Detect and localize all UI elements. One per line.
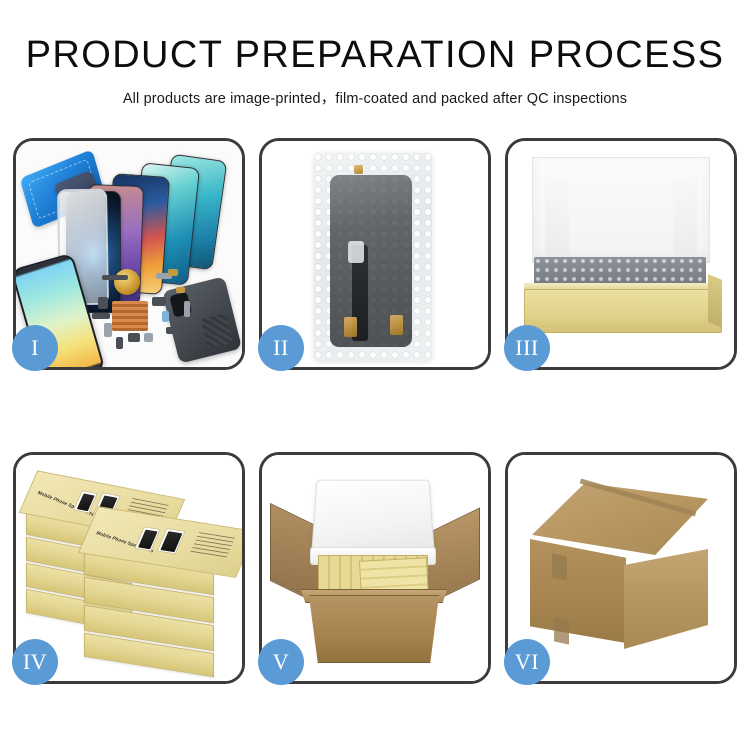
part-block-5 bbox=[144, 333, 153, 342]
process-step-1[interactable]: I bbox=[13, 138, 245, 370]
gold-contact-3 bbox=[354, 165, 363, 174]
part-block-3 bbox=[152, 297, 166, 306]
page-subtitle: All products are image-printed，film-coat… bbox=[0, 87, 750, 108]
box-window-front-2 bbox=[157, 528, 186, 554]
part-block-4 bbox=[128, 333, 140, 342]
part-strip-1 bbox=[102, 275, 128, 280]
carton-tape-bottom bbox=[554, 617, 569, 644]
part-block-1 bbox=[98, 297, 108, 309]
phone-back-housing bbox=[162, 276, 242, 363]
connector-white bbox=[348, 241, 364, 263]
wireless-coil-part bbox=[114, 269, 140, 295]
carton-tape-top bbox=[552, 553, 567, 580]
process-step-4[interactable]: Mobile Phone Spare Parts Mobile Phone Sp… bbox=[13, 452, 245, 684]
part-block-7 bbox=[166, 327, 179, 334]
part-blue-1 bbox=[162, 311, 169, 322]
process-step-2[interactable]: II bbox=[259, 138, 491, 370]
box-lid-white bbox=[532, 157, 710, 263]
step-badge-5: V bbox=[258, 639, 304, 685]
part-block-8 bbox=[184, 301, 190, 317]
part-flex-1 bbox=[92, 313, 110, 319]
carton-side-face bbox=[624, 549, 708, 649]
step-badge-3: III bbox=[504, 325, 550, 371]
process-step-5[interactable]: V bbox=[259, 452, 491, 684]
part-gold-2 bbox=[176, 287, 185, 293]
process-step-3[interactable]: III bbox=[505, 138, 737, 370]
carton-front-face bbox=[530, 539, 626, 643]
bubble-wrap-bag bbox=[314, 153, 432, 361]
step-badge-2: II bbox=[258, 325, 304, 371]
step-badge-6: VI bbox=[504, 639, 550, 685]
gold-contact-1 bbox=[344, 317, 357, 337]
chip-array-part bbox=[112, 301, 148, 331]
step-badge-1: I bbox=[12, 325, 58, 371]
box-side-yellow bbox=[708, 274, 722, 328]
step-badge-4: IV bbox=[12, 639, 58, 685]
page-title: PRODUCT PREPARATION PROCESS bbox=[0, 36, 750, 76]
process-step-6[interactable]: VI bbox=[505, 452, 737, 684]
part-block-2 bbox=[104, 323, 112, 337]
gold-contact-2 bbox=[390, 315, 403, 335]
part-block-6 bbox=[116, 337, 123, 349]
box-front-yellow bbox=[524, 289, 722, 333]
carton-body bbox=[300, 595, 448, 663]
part-gold-1 bbox=[168, 269, 178, 276]
page-header: PRODUCT PREPARATION PROCESS All products… bbox=[0, 0, 750, 108]
process-grid: I II bbox=[13, 138, 737, 738]
foam-lid bbox=[311, 480, 435, 554]
box-spec-text-front bbox=[190, 532, 235, 558]
